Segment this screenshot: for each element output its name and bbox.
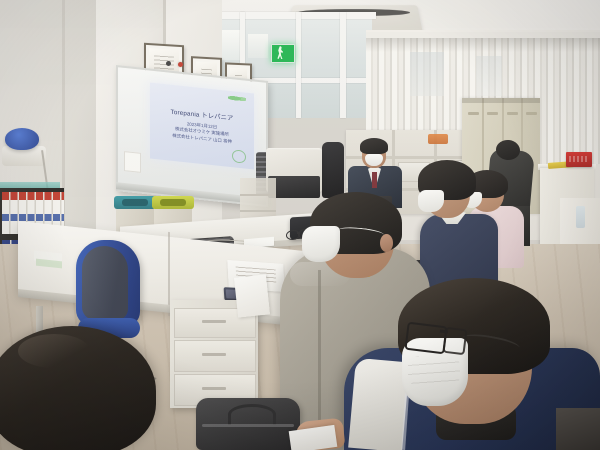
bottle xyxy=(576,206,585,228)
face-mask xyxy=(302,226,340,262)
blinds-headrail xyxy=(366,32,600,38)
office-training-room-photo: Torepania トレパニア 2023年1月12日 株式会社オウミケ 実施場所… xyxy=(0,0,600,450)
hanging-coat xyxy=(322,142,344,198)
drawer[interactable] xyxy=(174,340,256,372)
presenter-tie xyxy=(372,172,377,188)
posted-note xyxy=(124,151,141,173)
partition-top-rail xyxy=(208,12,376,19)
red-box-label xyxy=(569,156,589,162)
held-handout xyxy=(234,274,270,317)
orange-box-on-shelf xyxy=(428,134,448,144)
magnet-black-icon xyxy=(166,61,171,66)
drawer-handle[interactable] xyxy=(202,320,226,323)
mask-pleats xyxy=(408,356,460,386)
binder-blue-labels xyxy=(2,214,64,221)
partition-post xyxy=(340,12,346,118)
eyeglasses-bridge xyxy=(297,232,300,234)
locker-handle[interactable] xyxy=(468,112,479,115)
cart-shelf xyxy=(240,194,276,196)
locker-handle[interactable] xyxy=(507,112,518,115)
slide-title: Torepania トレパニア xyxy=(171,106,234,122)
binder-red-tabs xyxy=(2,192,64,200)
locker-handle[interactable] xyxy=(487,112,498,115)
drawer-handle[interactable] xyxy=(202,387,226,390)
blind-gap xyxy=(476,56,502,96)
drawer-handle[interactable] xyxy=(202,353,226,356)
ear xyxy=(380,234,393,252)
partition-post xyxy=(296,12,301,118)
locker-top-shadow xyxy=(462,98,540,103)
eyeglasses-icon xyxy=(404,322,447,355)
exit-sign-icon xyxy=(271,44,295,63)
chair-back-shade xyxy=(82,246,128,320)
magnet-red-icon xyxy=(178,62,183,67)
bag-handle[interactable] xyxy=(228,404,276,425)
hair-highlight xyxy=(18,334,90,368)
cart-shelf xyxy=(240,210,276,212)
blind-gap xyxy=(410,52,444,96)
far-room-light-2 xyxy=(248,34,268,58)
face-mask xyxy=(418,190,444,212)
bin-slot xyxy=(160,199,186,206)
bag-zipper xyxy=(202,424,294,427)
dark-drawer-front xyxy=(556,408,600,450)
presenter-hair xyxy=(360,138,388,154)
bin-slot xyxy=(122,199,148,206)
blue-dome-equipment xyxy=(5,128,39,150)
locker-handle[interactable] xyxy=(526,112,537,115)
blinds-shadow xyxy=(366,36,600,52)
jacket-white-panel xyxy=(348,358,410,450)
